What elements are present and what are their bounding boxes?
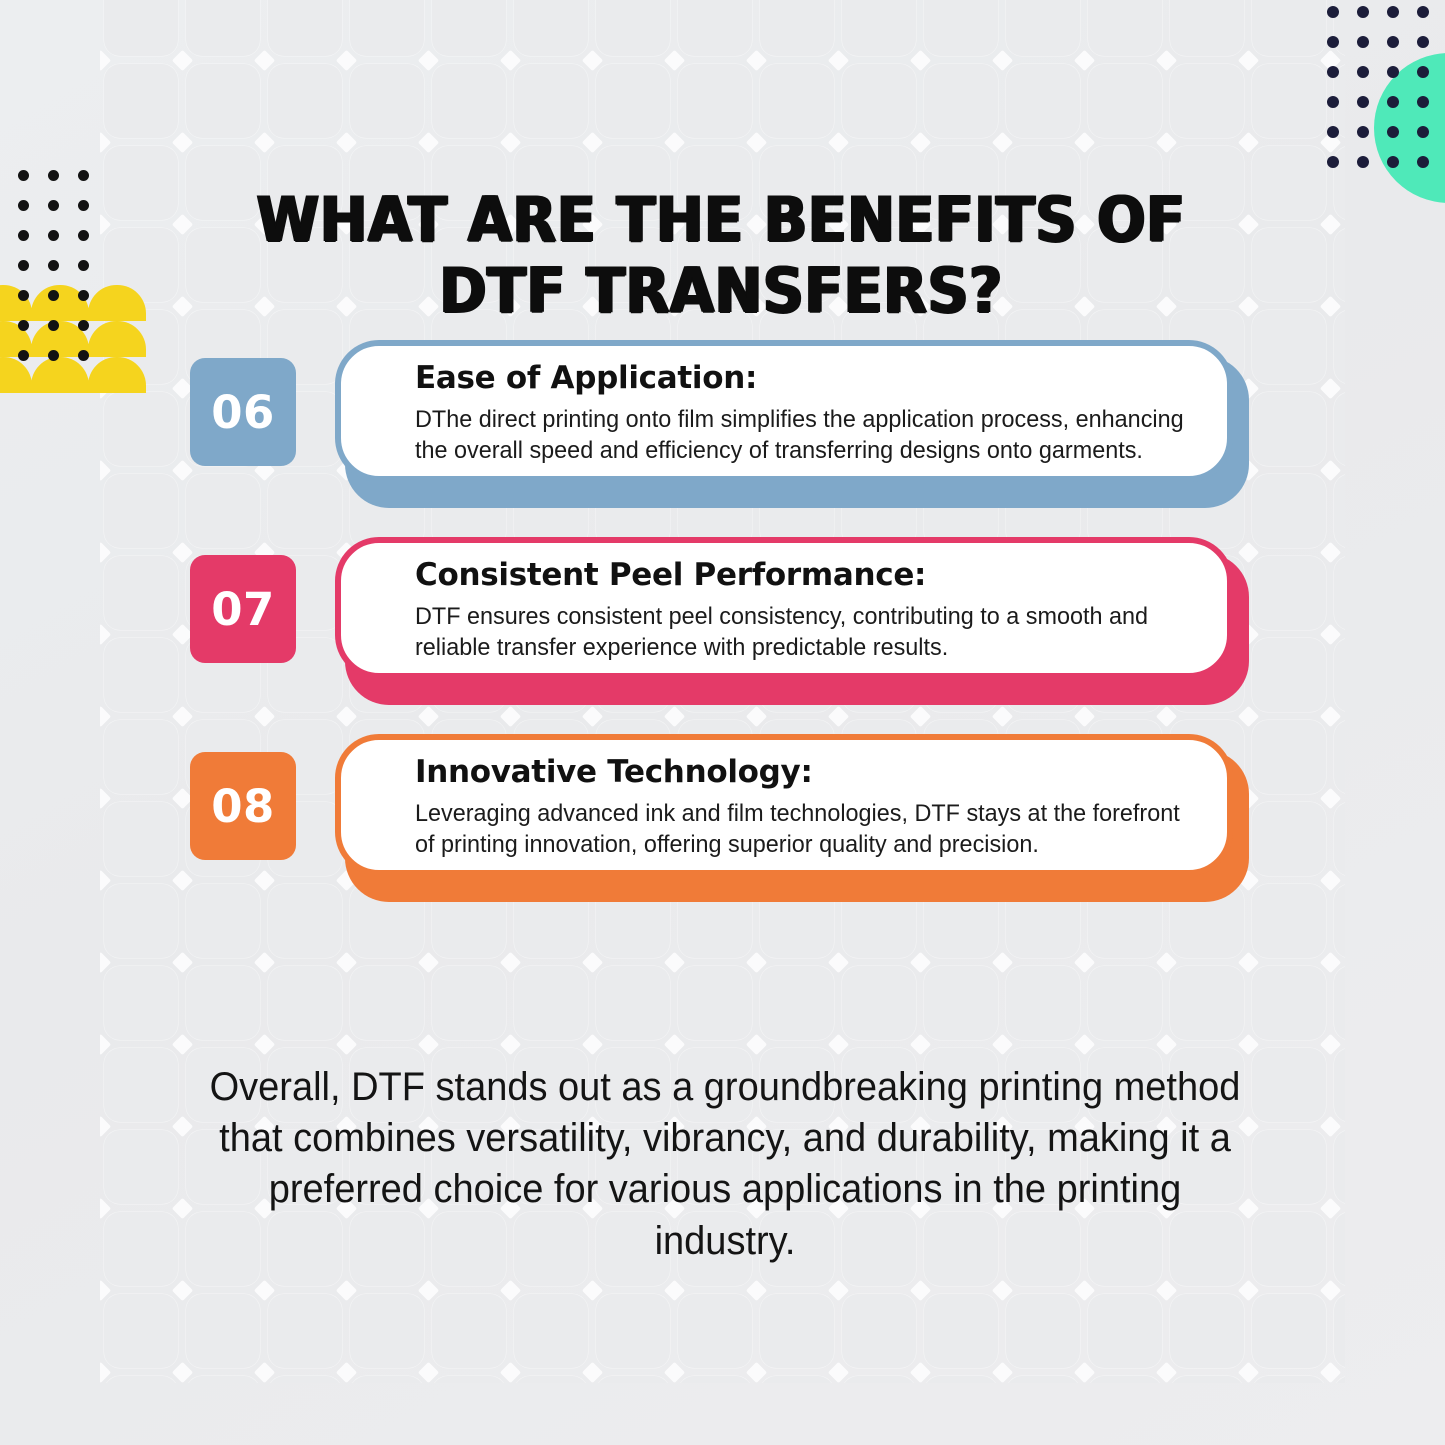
benefit-row: 07Consistent Peel Performance:DTF ensure… <box>0 537 1445 709</box>
grid-cell <box>1252 1376 1326 1383</box>
decoration-dot <box>1327 96 1339 108</box>
grid-diamond <box>418 50 439 71</box>
grid-cell <box>514 1376 588 1383</box>
grid-diamond <box>828 952 849 973</box>
grid-diamond <box>1156 132 1177 153</box>
grid-diamond <box>1074 132 1095 153</box>
dome-shape <box>0 285 32 321</box>
grid-diamond <box>1238 132 1259 153</box>
grid-cell <box>596 1376 670 1383</box>
grid-diamond <box>1074 1280 1095 1301</box>
grid-diamond <box>100 50 111 71</box>
decoration-dot <box>18 320 29 331</box>
grid-cell <box>1334 1294 1345 1368</box>
grid-diamond <box>992 50 1013 71</box>
grid-cell <box>432 1376 506 1383</box>
grid-diamond <box>172 1362 193 1383</box>
grid-diamond <box>664 132 685 153</box>
grid-diamond <box>172 1198 193 1219</box>
benefit-number: 08 <box>211 780 275 833</box>
grid-cell <box>596 64 670 138</box>
grid-diamond <box>582 1280 603 1301</box>
grid-diamond <box>500 50 521 71</box>
grid-cell <box>842 966 916 1040</box>
grid-diamond <box>1238 1280 1259 1301</box>
grid-diamond <box>1320 1034 1341 1055</box>
summary-paragraph: Overall, DTF stands out as a groundbreak… <box>203 1062 1246 1267</box>
grid-diamond <box>336 952 357 973</box>
decoration-dot <box>78 200 89 211</box>
grid-diamond <box>418 132 439 153</box>
grid-cell <box>760 1376 834 1383</box>
grid-cell <box>842 1376 916 1383</box>
card-content: Ease of Application:DThe direct printing… <box>415 362 1225 466</box>
decoration-dot <box>18 290 29 301</box>
infographic-canvas: WHAT ARE THE BENEFITS OF DTF TRANSFERS? … <box>0 0 1445 1445</box>
grid-cell <box>1252 1130 1326 1204</box>
grid-cell <box>350 966 424 1040</box>
grid-diamond <box>254 706 275 727</box>
grid-diamond <box>418 1034 439 1055</box>
grid-diamond <box>664 706 685 727</box>
grid-cell <box>1334 228 1345 302</box>
decoration-dot <box>1387 6 1399 18</box>
grid-cell <box>350 1376 424 1383</box>
grid-diamond <box>418 706 439 727</box>
grid-cell <box>1170 1294 1244 1368</box>
decoration-dot <box>18 260 29 271</box>
grid-diamond <box>1320 1280 1341 1301</box>
grid-cell <box>268 0 342 56</box>
decoration-dot <box>18 230 29 241</box>
grid-diamond <box>1238 706 1259 727</box>
decoration-dot <box>1417 36 1429 48</box>
grid-cell <box>1334 966 1345 1040</box>
grid-cell <box>678 1376 752 1383</box>
grid-cell <box>514 64 588 138</box>
decoration-dot <box>48 260 59 271</box>
decoration-dot <box>48 320 59 331</box>
grid-cell <box>1170 64 1244 138</box>
benefit-number-badge: 07 <box>190 555 296 663</box>
decoration-dot <box>1387 36 1399 48</box>
grid-diamond <box>100 214 111 235</box>
grid-diamond <box>172 1034 193 1055</box>
grid-diamond <box>910 1034 931 1055</box>
decoration-dot <box>78 320 89 331</box>
grid-cell <box>842 1294 916 1368</box>
grid-diamond <box>992 1280 1013 1301</box>
grid-diamond <box>336 1362 357 1383</box>
grid-diamond <box>992 952 1013 973</box>
grid-diamond <box>664 1362 685 1383</box>
grid-cell <box>1006 966 1080 1040</box>
grid-cell <box>1088 64 1162 138</box>
decoration-dot <box>1387 96 1399 108</box>
grid-diamond <box>100 1280 111 1301</box>
grid-diamond <box>746 1034 767 1055</box>
grid-diamond <box>336 706 357 727</box>
grid-diamond <box>910 1362 931 1383</box>
grid-diamond <box>336 50 357 71</box>
decoration-dot <box>1327 36 1339 48</box>
grid-diamond <box>992 706 1013 727</box>
grid-diamond <box>910 706 931 727</box>
grid-cell <box>186 1294 260 1368</box>
grid-cell <box>596 1294 670 1368</box>
grid-cell <box>104 1048 178 1122</box>
grid-cell <box>514 966 588 1040</box>
grid-cell <box>514 1294 588 1368</box>
decoration-dot <box>78 290 89 301</box>
grid-cell <box>1088 1376 1162 1383</box>
grid-diamond <box>1156 706 1177 727</box>
decoration-dot <box>1417 96 1429 108</box>
decoration-dot <box>48 170 59 181</box>
grid-cell <box>1252 146 1326 220</box>
grid-diamond <box>172 1280 193 1301</box>
grid-diamond <box>100 1198 111 1219</box>
grid-diamond <box>254 952 275 973</box>
grid-cell <box>678 1294 752 1368</box>
grid-diamond <box>664 50 685 71</box>
grid-cell <box>268 64 342 138</box>
grid-cell <box>1088 1294 1162 1368</box>
grid-diamond <box>1320 1362 1341 1383</box>
grid-diamond <box>254 50 275 71</box>
grid-diamond <box>1074 706 1095 727</box>
grid-cell <box>104 1212 178 1286</box>
grid-cell <box>1252 1048 1326 1122</box>
decoration-dot <box>18 200 29 211</box>
grid-cell <box>1252 1212 1326 1286</box>
grid-cell <box>1006 64 1080 138</box>
grid-diamond <box>254 1034 275 1055</box>
grid-diamond <box>418 1280 439 1301</box>
grid-diamond <box>1238 50 1259 71</box>
grid-diamond <box>582 1362 603 1383</box>
decoration-dot <box>48 200 59 211</box>
grid-cell <box>1088 966 1162 1040</box>
grid-diamond <box>828 132 849 153</box>
grid-diamond <box>418 952 439 973</box>
grid-diamond <box>992 132 1013 153</box>
grid-cell <box>1334 1212 1345 1286</box>
grid-diamond <box>172 1116 193 1137</box>
grid-cell <box>1006 1294 1080 1368</box>
benefit-description: DTF ensures consistent peel consistency,… <box>415 601 1189 664</box>
grid-diamond <box>582 132 603 153</box>
benefit-row: 06Ease of Application:DThe direct printi… <box>0 340 1445 512</box>
grid-cell <box>1334 1130 1345 1204</box>
grid-diamond <box>828 1034 849 1055</box>
grid-diamond <box>664 1034 685 1055</box>
dome-shape <box>88 285 146 321</box>
grid-cell <box>678 64 752 138</box>
benefit-description: Leveraging advanced ink and film technol… <box>415 798 1189 861</box>
grid-cell <box>596 966 670 1040</box>
benefit-number: 06 <box>211 386 275 439</box>
grid-cell <box>432 966 506 1040</box>
benefit-heading: Innovative Technology: <box>415 756 1225 789</box>
grid-diamond <box>500 132 521 153</box>
grid-cell <box>924 966 998 1040</box>
decoration-dot <box>1327 66 1339 78</box>
grid-cell <box>1006 1376 1080 1383</box>
grid-cell <box>760 1294 834 1368</box>
grid-diamond <box>910 132 931 153</box>
grid-diamond <box>1238 952 1259 973</box>
grid-cell <box>104 146 178 220</box>
decoration-dot <box>18 350 29 361</box>
decoration-dot <box>1327 6 1339 18</box>
decoration-dot <box>1327 126 1339 138</box>
grid-cell <box>350 1294 424 1368</box>
grid-diamond <box>746 706 767 727</box>
benefit-card: Innovative Technology:Leveraging advance… <box>335 734 1249 902</box>
grid-cell <box>104 966 178 1040</box>
decoration-dot <box>1327 156 1339 168</box>
grid-cell <box>1006 0 1080 56</box>
decoration-dot <box>1357 126 1369 138</box>
benefit-number-badge: 08 <box>190 752 296 860</box>
grid-cell <box>1334 1376 1345 1383</box>
benefit-heading: Ease of Application: <box>415 362 1225 395</box>
grid-cell <box>350 0 424 56</box>
grid-diamond <box>100 1116 111 1137</box>
grid-cell <box>186 966 260 1040</box>
grid-diamond <box>1156 50 1177 71</box>
grid-diamond <box>910 952 931 973</box>
grid-diamond <box>254 1362 275 1383</box>
grid-diamond <box>172 296 193 317</box>
decoration-dot <box>48 290 59 301</box>
grid-cell <box>1252 966 1326 1040</box>
grid-cell <box>760 966 834 1040</box>
grid-cell <box>842 64 916 138</box>
grid-diamond <box>1320 706 1341 727</box>
grid-diamond <box>500 1280 521 1301</box>
grid-cell <box>104 0 178 56</box>
grid-cell <box>1252 228 1326 302</box>
grid-diamond <box>1156 1362 1177 1383</box>
benefit-card: Ease of Application:DThe direct printing… <box>335 340 1249 508</box>
decoration-dot <box>1417 6 1429 18</box>
grid-cell <box>350 64 424 138</box>
decoration-dot <box>1357 6 1369 18</box>
grid-diamond <box>828 706 849 727</box>
teal-circle-decoration <box>1374 53 1445 203</box>
benefit-row: 08Innovative Technology:Leveraging advan… <box>0 734 1445 906</box>
decoration-dot <box>78 170 89 181</box>
grid-diamond <box>100 706 111 727</box>
grid-diamond <box>746 50 767 71</box>
grid-diamond <box>746 1362 767 1383</box>
grid-diamond <box>172 132 193 153</box>
grid-diamond <box>418 1362 439 1383</box>
grid-diamond <box>664 1280 685 1301</box>
grid-diamond <box>172 214 193 235</box>
decoration-dot <box>1387 66 1399 78</box>
grid-cell <box>760 0 834 56</box>
grid-diamond <box>746 952 767 973</box>
grid-cell <box>924 64 998 138</box>
grid-diamond <box>1074 952 1095 973</box>
grid-cell <box>1170 966 1244 1040</box>
decoration-dot <box>1357 156 1369 168</box>
grid-diamond <box>1320 214 1341 235</box>
grid-cell <box>924 1294 998 1368</box>
grid-cell <box>186 1376 260 1383</box>
grid-diamond <box>100 952 111 973</box>
grid-cell <box>596 0 670 56</box>
grid-diamond <box>1238 296 1259 317</box>
grid-diamond <box>582 50 603 71</box>
grid-cell <box>104 1294 178 1368</box>
grid-cell <box>186 64 260 138</box>
grid-cell <box>1252 0 1326 56</box>
grid-diamond <box>746 132 767 153</box>
grid-diamond <box>100 1362 111 1383</box>
grid-diamond <box>172 706 193 727</box>
grid-diamond <box>664 952 685 973</box>
grid-diamond <box>254 1280 275 1301</box>
grid-cell <box>924 1376 998 1383</box>
grid-diamond <box>336 1034 357 1055</box>
grid-cell <box>1252 1294 1326 1368</box>
grid-cell <box>186 0 260 56</box>
grid-diamond <box>1320 952 1341 973</box>
decoration-dot <box>78 260 89 271</box>
grid-diamond <box>1074 50 1095 71</box>
grid-cell <box>678 966 752 1040</box>
grid-cell <box>514 0 588 56</box>
grid-diamond <box>1320 1198 1341 1219</box>
grid-diamond <box>582 1034 603 1055</box>
decoration-dot <box>78 350 89 361</box>
grid-diamond <box>992 1034 1013 1055</box>
benefit-number-badge: 06 <box>190 358 296 466</box>
grid-diamond <box>1320 296 1341 317</box>
grid-diamond <box>500 1034 521 1055</box>
decoration-dot <box>78 230 89 241</box>
grid-diamond <box>1238 1034 1259 1055</box>
grid-cell <box>1252 64 1326 138</box>
grid-diamond <box>828 1362 849 1383</box>
decoration-dot <box>1387 156 1399 168</box>
grid-cell <box>924 0 998 56</box>
benefit-card: Consistent Peel Performance:DTF ensures … <box>335 537 1249 705</box>
grid-cell <box>268 966 342 1040</box>
grid-diamond <box>100 132 111 153</box>
grid-diamond <box>500 952 521 973</box>
decoration-dot <box>1417 66 1429 78</box>
grid-cell <box>1170 0 1244 56</box>
grid-cell <box>268 1376 342 1383</box>
grid-cell <box>104 64 178 138</box>
grid-diamond <box>1156 1280 1177 1301</box>
grid-diamond <box>1238 1362 1259 1383</box>
grid-diamond <box>1238 214 1259 235</box>
decoration-dot <box>18 170 29 181</box>
grid-diamond <box>828 50 849 71</box>
grid-diamond <box>336 1280 357 1301</box>
decoration-dot <box>1357 66 1369 78</box>
grid-cell <box>432 1294 506 1368</box>
decoration-dot <box>1417 156 1429 168</box>
decoration-dot <box>1387 126 1399 138</box>
card-content: Consistent Peel Performance:DTF ensures … <box>415 559 1225 663</box>
grid-diamond <box>1320 1116 1341 1137</box>
grid-cell <box>104 1130 178 1204</box>
grid-diamond <box>100 1034 111 1055</box>
grid-diamond <box>1074 1362 1095 1383</box>
decoration-dot <box>1417 126 1429 138</box>
grid-diamond <box>336 132 357 153</box>
grid-cell <box>1088 0 1162 56</box>
grid-diamond <box>910 50 931 71</box>
grid-diamond <box>1074 1034 1095 1055</box>
grid-diamond <box>254 132 275 153</box>
benefit-description: DThe direct printing onto film simplifie… <box>415 404 1189 467</box>
grid-cell <box>760 64 834 138</box>
decoration-dot <box>48 350 59 361</box>
grid-cell <box>268 1294 342 1368</box>
grid-diamond <box>500 1362 521 1383</box>
grid-diamond <box>172 952 193 973</box>
benefit-heading: Consistent Peel Performance: <box>415 559 1225 592</box>
grid-diamond <box>992 1362 1013 1383</box>
grid-cell <box>1170 1376 1244 1383</box>
card-content: Innovative Technology:Leveraging advance… <box>415 756 1225 860</box>
grid-cell <box>678 0 752 56</box>
grid-cell <box>1334 1048 1345 1122</box>
decoration-dot <box>48 230 59 241</box>
grid-diamond <box>1156 1034 1177 1055</box>
grid-cell <box>432 0 506 56</box>
grid-cell <box>104 1376 178 1383</box>
grid-diamond <box>746 1280 767 1301</box>
grid-cell <box>842 0 916 56</box>
grid-diamond <box>500 706 521 727</box>
benefit-number: 07 <box>211 583 275 636</box>
grid-cell <box>432 64 506 138</box>
grid-diamond <box>1156 952 1177 973</box>
decoration-dot <box>1357 96 1369 108</box>
page-title: WHAT ARE THE BENEFITS OF DTF TRANSFERS? <box>220 184 1223 328</box>
grid-diamond <box>172 50 193 71</box>
grid-diamond <box>582 706 603 727</box>
grid-diamond <box>582 952 603 973</box>
grid-diamond <box>828 1280 849 1301</box>
decoration-dot <box>1357 36 1369 48</box>
grid-diamond <box>910 1280 931 1301</box>
